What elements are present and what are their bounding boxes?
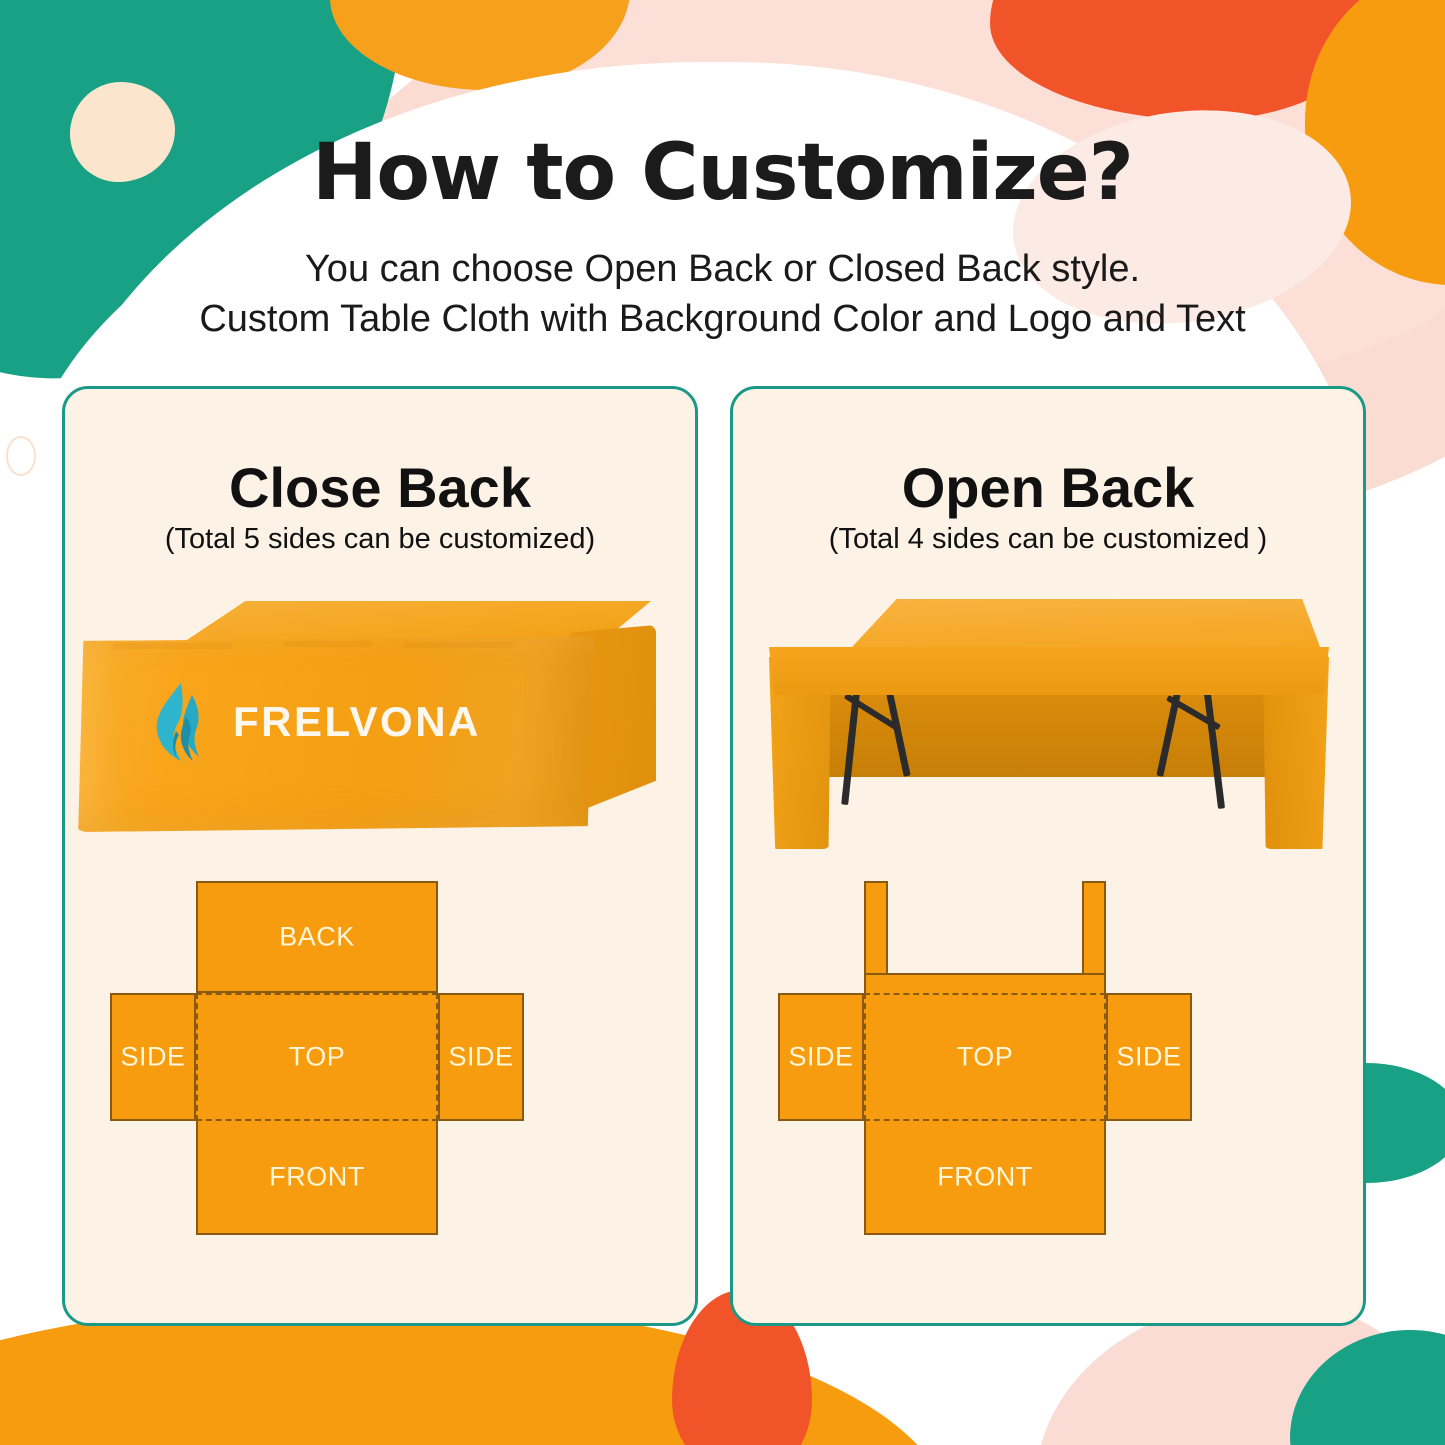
- panel-side-left-label: SIDE: [780, 1042, 862, 1073]
- page-title: How to Customize?: [0, 128, 1445, 218]
- panel-front-label: FRONT: [198, 1162, 436, 1193]
- panel-side-right-label: SIDE: [1108, 1042, 1190, 1073]
- outline-ring-accent: [6, 436, 36, 476]
- page-subtitle: You can choose Open Back or Closed Back …: [0, 244, 1445, 344]
- panel-side-right-label: SIDE: [440, 1042, 522, 1073]
- card-open-back[interactable]: Open Back (Total 4 sides can be customiz…: [730, 386, 1366, 1326]
- card-open-back-title: Open Back: [733, 455, 1363, 520]
- panel-front-label: FRONT: [866, 1162, 1104, 1193]
- card-open-back-subtitle: (Total 4 sides can be customized ): [733, 523, 1363, 556]
- subtitle-line-2: Custom Table Cloth with Background Color…: [0, 294, 1445, 344]
- cloth-top-surface-open: [803, 599, 1323, 655]
- panel-side-left: SIDE: [778, 993, 864, 1121]
- panel-side-right: SIDE: [1106, 993, 1192, 1121]
- card-close-back-title: Close Back: [65, 455, 695, 520]
- strap-bridge: [864, 973, 1106, 995]
- open-back-panel-diagram: SIDE TOP SIDE FRONT: [733, 869, 1363, 1269]
- subtitle-line-1: You can choose Open Back or Closed Back …: [0, 244, 1445, 294]
- panel-back-label: BACK: [198, 922, 436, 953]
- open-back-product-image: [733, 589, 1363, 854]
- brand-lockup: FRELVONA: [151, 681, 481, 763]
- infographic-canvas: How to Customize? You can choose Open Ba…: [0, 0, 1445, 1445]
- panel-side-left-label: SIDE: [112, 1042, 194, 1073]
- close-back-panel-diagram: BACK SIDE TOP SIDE FRONT: [65, 869, 695, 1269]
- card-close-back-subtitle: (Total 5 sides can be customized): [65, 523, 695, 556]
- panel-side-left: SIDE: [110, 993, 196, 1121]
- panel-side-right: SIDE: [438, 993, 524, 1121]
- flame-icon: [151, 681, 215, 763]
- panel-top-label: TOP: [866, 1042, 1104, 1073]
- brand-name: FRELVONA: [233, 698, 481, 746]
- panel-back: BACK: [196, 881, 438, 993]
- panel-top: TOP: [864, 993, 1106, 1121]
- panel-front: FRONT: [196, 1121, 438, 1235]
- card-close-back[interactable]: Close Back (Total 5 sides can be customi…: [62, 386, 698, 1326]
- panel-front: FRONT: [864, 1121, 1106, 1235]
- panel-top-label: TOP: [198, 1042, 436, 1073]
- cloth-front-band: [769, 647, 1329, 695]
- panel-top: TOP: [196, 993, 438, 1121]
- close-back-product-image: FRELVONA: [65, 589, 695, 854]
